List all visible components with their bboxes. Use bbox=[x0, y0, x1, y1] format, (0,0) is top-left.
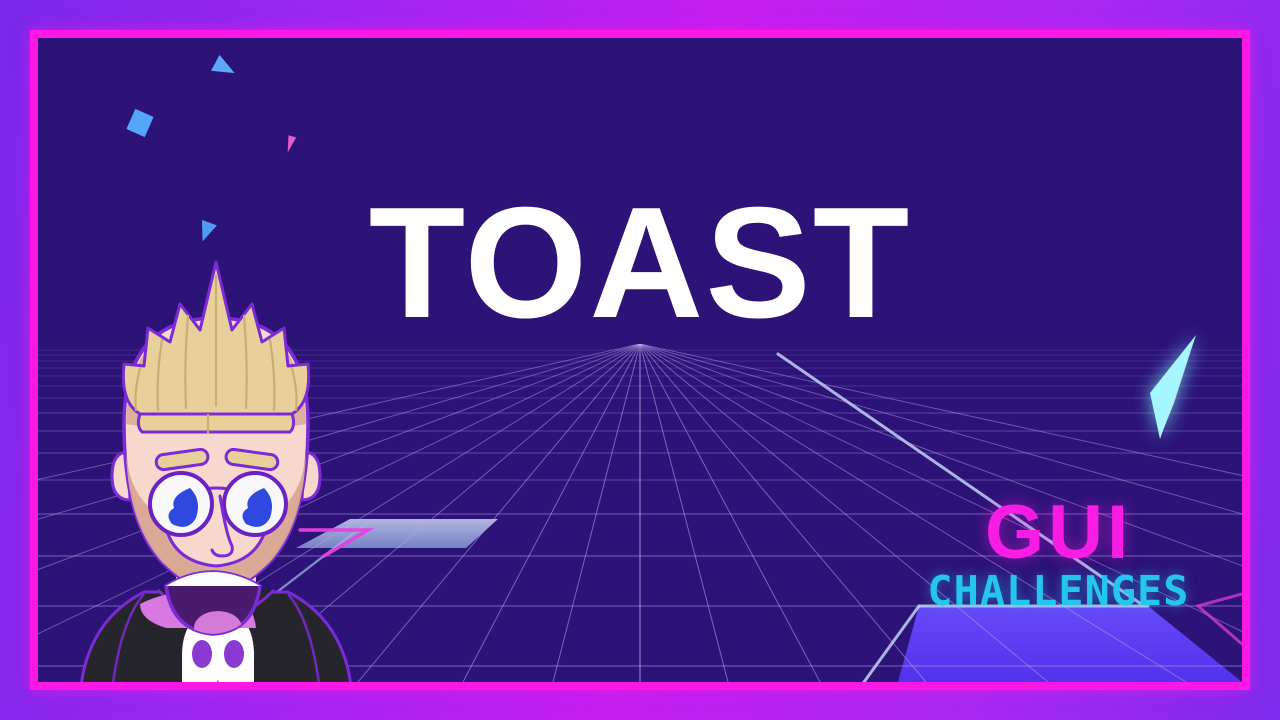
thumbnail-screen: TOAST GUI CHALLENGES bbox=[38, 38, 1242, 682]
channel-logo: GUI CHALLENGES bbox=[930, 500, 1187, 612]
confetti-square-blue bbox=[126, 109, 153, 137]
confetti-triangle-pink bbox=[284, 135, 296, 154]
logo-text-gui: GUI bbox=[930, 500, 1187, 567]
host-avatar bbox=[38, 256, 416, 682]
confetti-triangle-blue bbox=[211, 55, 239, 81]
video-thumbnail: TOAST GUI CHALLENGES bbox=[0, 0, 1280, 720]
cyan-light-shard bbox=[1148, 333, 1218, 443]
grid-cell-bottom-right bbox=[898, 606, 1242, 682]
logo-text-challenges: CHALLENGES bbox=[928, 571, 1190, 612]
